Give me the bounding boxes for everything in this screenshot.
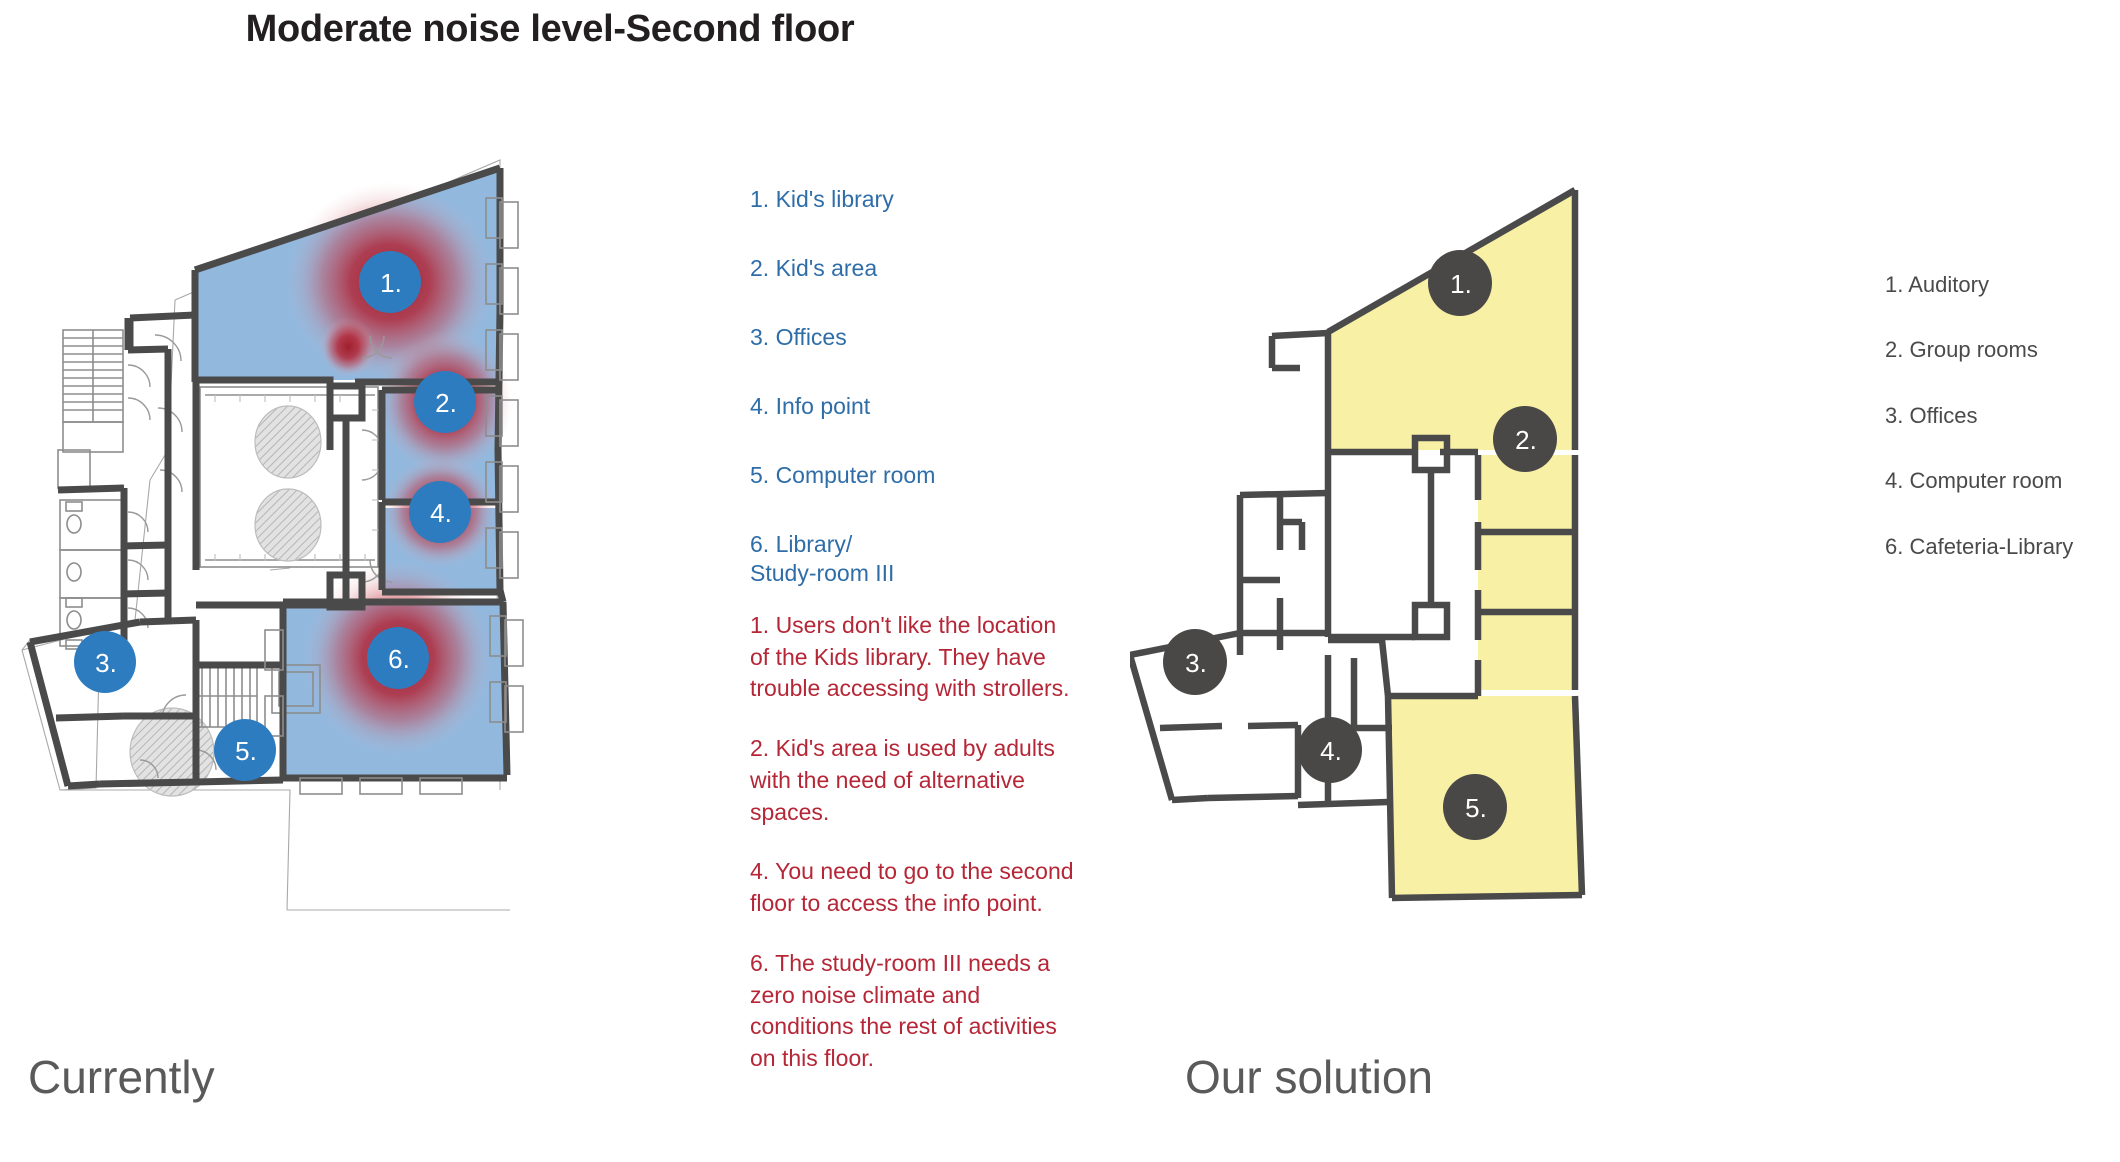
noise-glow-door — [320, 317, 376, 377]
legend-item: 2. Kid's area — [750, 254, 1090, 283]
stair-upper — [58, 330, 123, 488]
caption-solution: Our solution — [1185, 1050, 1433, 1104]
sol-marker-1-label: 1. — [1450, 269, 1472, 299]
floorplan-solution: 1. 2. 3. 4. 5. — [1130, 150, 1910, 1100]
rlegend-item: 4. Computer room — [1885, 468, 2120, 494]
stair-lower — [195, 665, 257, 727]
sol-marker-3-label: 3. — [1185, 648, 1207, 678]
marker-3[interactable]: 3. — [74, 631, 136, 693]
legend-item: 5. Computer room — [750, 461, 1090, 490]
rlegend-item: 2. Group rooms — [1885, 337, 2120, 363]
marker-1[interactable]: 1. — [359, 251, 421, 313]
note-item: 1. Users don't like the location of the … — [750, 610, 1080, 705]
caption-current: Currently — [28, 1050, 215, 1104]
note-item: 2. Kid's area is used by adults with the… — [750, 733, 1080, 828]
marker-2[interactable]: 2. — [414, 371, 476, 433]
marker-6-label: 6. — [388, 644, 410, 674]
legend-item: 3. Offices — [750, 323, 1090, 352]
sol-marker-4[interactable]: 4. — [1298, 717, 1362, 783]
zone-group-rooms-b — [1478, 534, 1575, 610]
marker-3-label: 3. — [95, 648, 117, 678]
rlegend-item: 6. Cafeteria-Library — [1885, 534, 2120, 560]
legend-item: 6. Library/ Study-room III — [750, 530, 1090, 588]
rlegend-item: 3. Offices — [1885, 403, 2120, 429]
legend-item: 1. Kid's library — [750, 185, 1090, 214]
marker-5[interactable]: 5. — [214, 719, 276, 781]
rlegend-item: 1. Auditory — [1885, 272, 2120, 298]
sol-marker-3[interactable]: 3. — [1163, 629, 1227, 695]
page-title: Moderate noise level-Second floor — [0, 8, 1100, 51]
sol-marker-2-label: 2. — [1515, 425, 1537, 455]
sol-marker-5[interactable]: 5. — [1443, 774, 1507, 840]
legend-solution: 1. Auditory 2. Group rooms 3. Offices 4.… — [1885, 272, 2120, 560]
planting-blob-b — [255, 489, 321, 561]
planting-blob-a — [255, 406, 321, 478]
marker-5-label: 5. — [235, 736, 257, 766]
marker-2-label: 2. — [435, 388, 457, 418]
note-item: 6. The study-room III needs a zero noise… — [750, 948, 1080, 1075]
marker-1-label: 1. — [380, 268, 402, 298]
legend-current: 1. Kid's library 2. Kid's area 3. Office… — [750, 185, 1090, 588]
marker-4-label: 4. — [430, 498, 452, 528]
sol-marker-2[interactable]: 2. — [1493, 406, 1557, 472]
sol-marker-4-label: 4. — [1320, 736, 1342, 766]
sol-marker-1[interactable]: 1. — [1428, 250, 1492, 316]
note-item: 4. You need to go to the second floor to… — [750, 856, 1080, 919]
notes-current: 1. Users don't like the location of the … — [750, 610, 1080, 1075]
sol-marker-5-label: 5. — [1465, 793, 1487, 823]
zone-group-rooms-c — [1478, 614, 1575, 690]
marker-6[interactable]: 6. — [367, 627, 429, 689]
legend-item: 4. Info point — [750, 392, 1090, 421]
marker-4[interactable]: 4. — [409, 481, 471, 543]
